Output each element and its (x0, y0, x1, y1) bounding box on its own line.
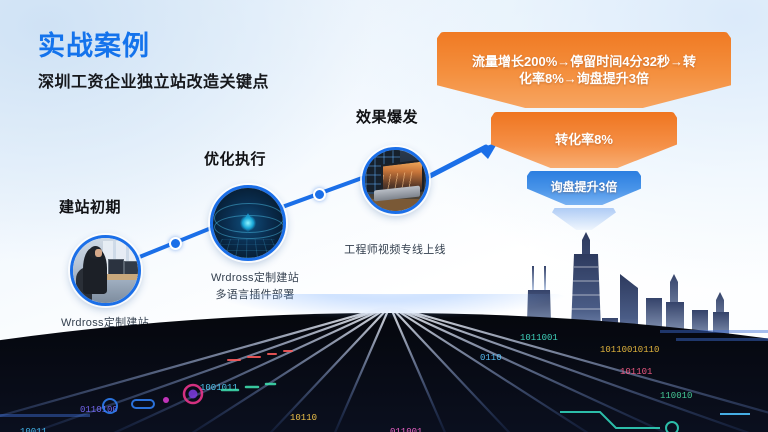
slide-canvas: 实战案例 深圳工资企业独立站改造关键点 建站初期 Wrdross定制建站 优化执… (0, 0, 768, 432)
tech-network-photo (213, 188, 283, 258)
page-title: 实战案例 (38, 33, 150, 60)
svg-text:110010: 110010 (660, 391, 692, 401)
svg-text:10011: 10011 (20, 427, 47, 432)
binary-data-highway: 1011001 10110010110 0110 101101 1001011 … (0, 294, 768, 432)
page-subtitle: 深圳工资企业独立站改造关键点 (38, 75, 269, 91)
step-caption-3: 工程师视频专线上线 (330, 241, 460, 257)
svg-text:011001: 011001 (390, 427, 422, 432)
step-label-1: 建站初期 (59, 196, 121, 217)
step-label-2: 优化执行 (204, 148, 266, 169)
step-caption-2-line1: Wrdross定制建站 (195, 270, 315, 287)
step-node-3[interactable] (362, 147, 429, 214)
laptop-photo (365, 150, 426, 211)
svg-text:101101: 101101 (620, 367, 652, 377)
funnel-segment-1[interactable]: 流量增长200%→停留时间4分32秒→转化率8%→询盘提升3倍 (437, 32, 731, 108)
connector-dot-2 (313, 188, 326, 201)
connector-dot-1 (169, 237, 182, 250)
svg-text:1001011: 1001011 (200, 383, 238, 393)
step-label-3: 效果爆发 (356, 106, 418, 127)
funnel-segment-3[interactable]: 询盘提升3倍 (527, 171, 641, 205)
step-node-2[interactable] (210, 185, 286, 261)
funnel-segment-2[interactable]: 转化率8% (491, 112, 677, 168)
svg-text:10110010110: 10110010110 (600, 345, 659, 355)
svg-text:10110: 10110 (290, 413, 317, 423)
